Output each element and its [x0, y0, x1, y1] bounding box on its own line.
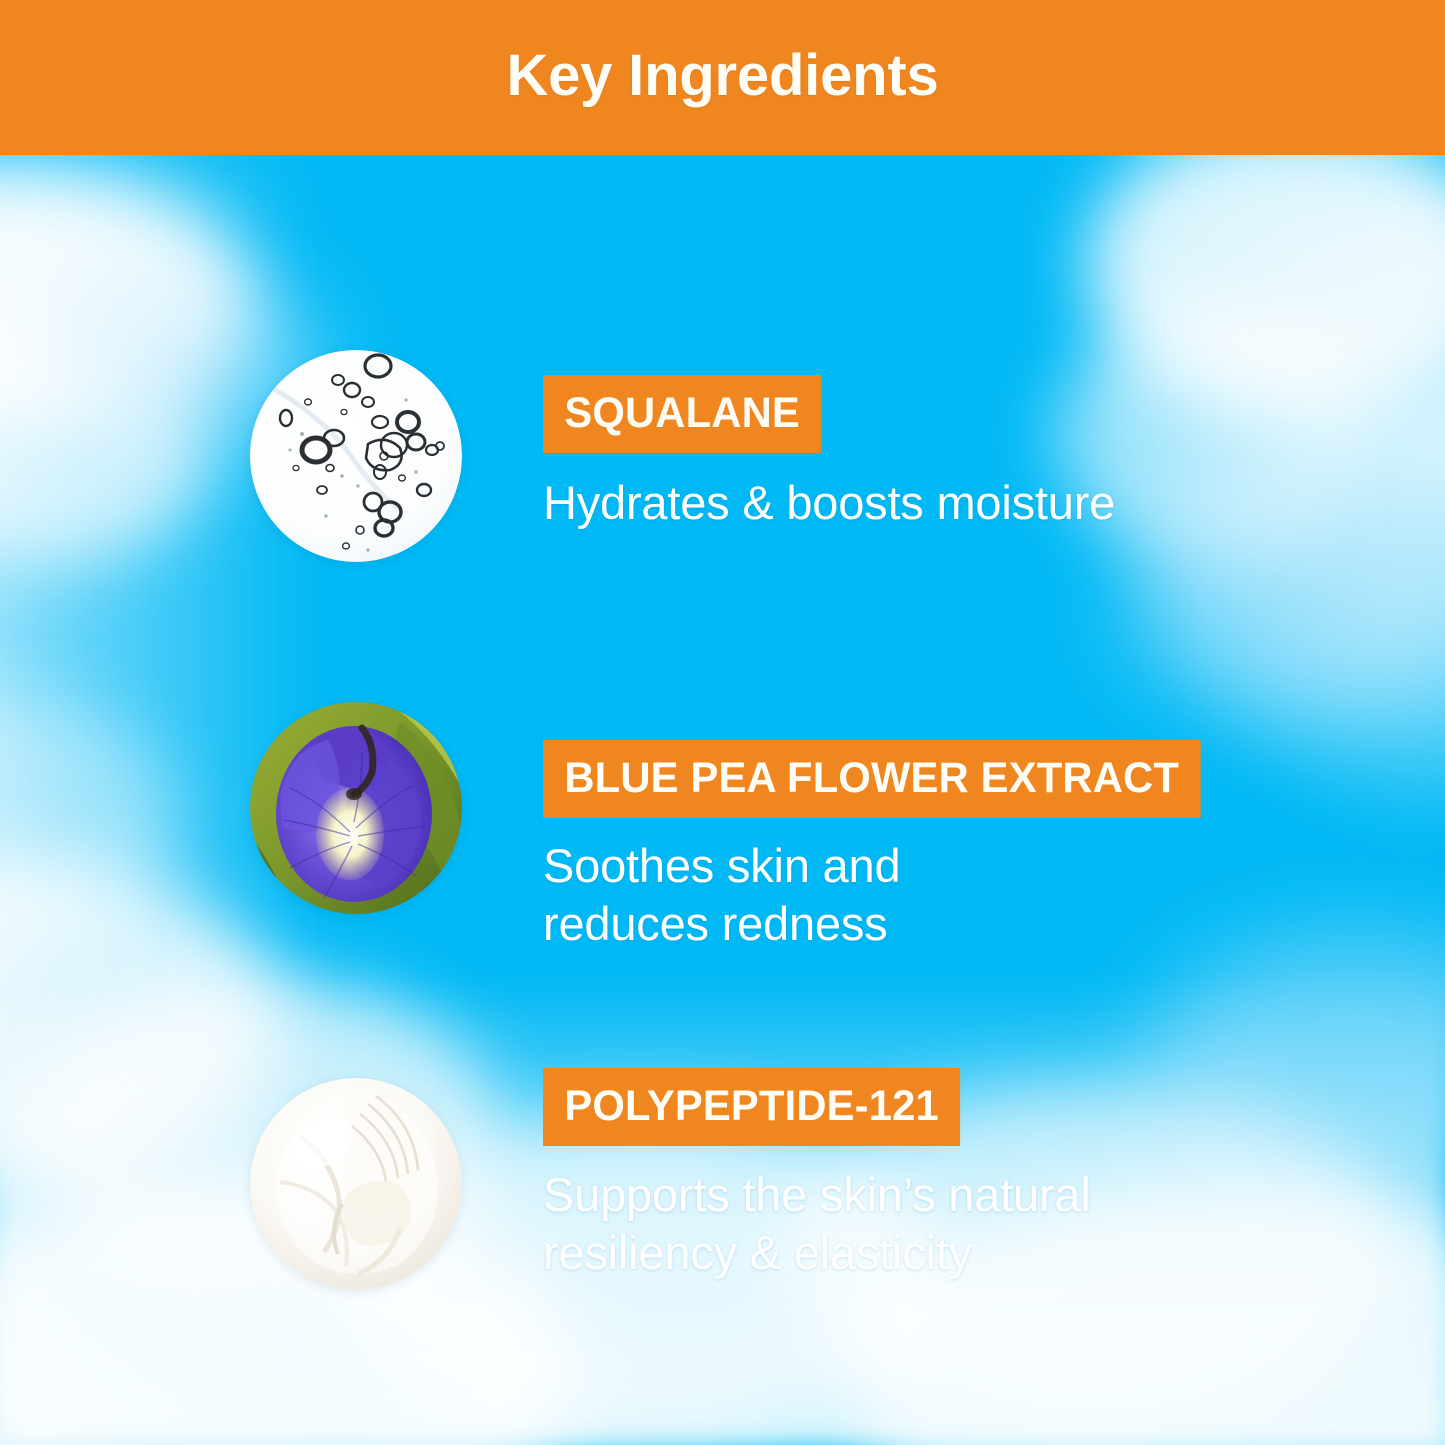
blue-pea-flower-copy: BLUE PEA FLOWER EXTRACT Soothes skin and…: [543, 740, 1221, 953]
header-bar: Key Ingredients: [0, 0, 1445, 155]
ingredient-description: Soothes skin and reduces redness: [543, 837, 1221, 953]
ingredient-description: Supports the skin’s natural resiliency &…: [543, 1166, 1091, 1282]
ingredient-row-polypeptide-121: POLYPEPTIDE-121 Supports the skin’s natu…: [0, 1078, 1445, 1290]
blue-pea-flower-thumbnail: [250, 702, 462, 914]
ingredient-description: Hydrates & boosts moisture: [543, 474, 1115, 532]
infographic-canvas: Key Ingredients: [0, 0, 1445, 1445]
ingredient-row-squalane: SQUALANE Hydrates & boosts moisture: [0, 350, 1445, 562]
ingredient-name-badge: POLYPEPTIDE-121: [543, 1068, 960, 1146]
polypeptide-cream-thumbnail: [250, 1078, 462, 1290]
polypeptide-copy: POLYPEPTIDE-121 Supports the skin’s natu…: [543, 1068, 1091, 1282]
page-title: Key Ingredients: [506, 47, 938, 105]
squalane-copy: SQUALANE Hydrates & boosts moisture: [543, 375, 1115, 532]
squalane-thumbnail: [250, 350, 462, 562]
ingredient-name-badge: SQUALANE: [543, 375, 821, 453]
ingredient-name-badge: BLUE PEA FLOWER EXTRACT: [543, 740, 1200, 818]
ingredient-row-blue-pea-flower-extract: BLUE PEA FLOWER EXTRACT Soothes skin and…: [0, 702, 1445, 914]
